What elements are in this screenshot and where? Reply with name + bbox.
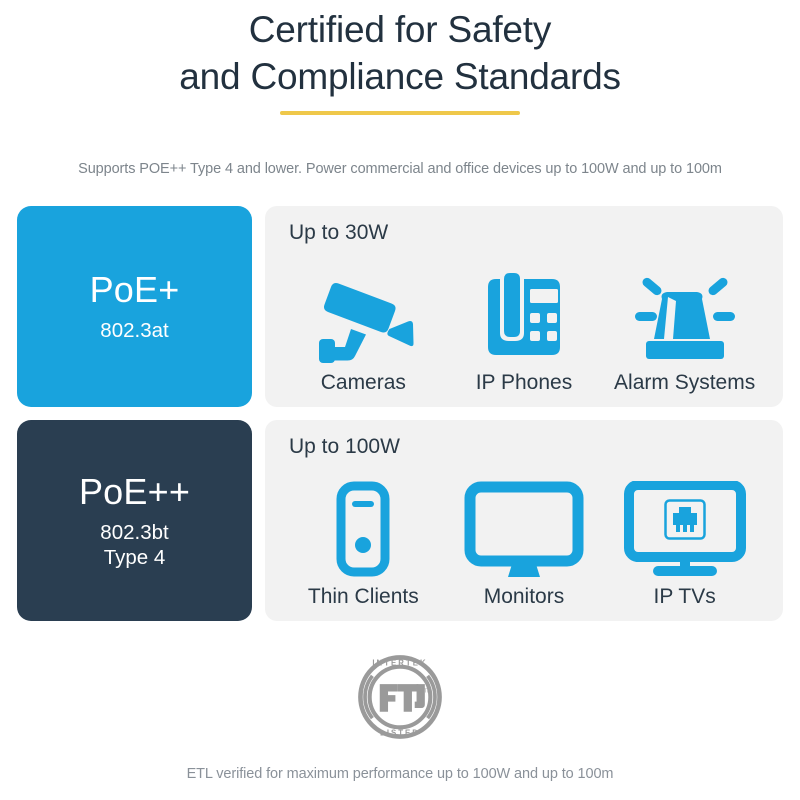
footer: INTERTEK LISTED TM ETL verified for maxi… [0,651,800,783]
alarm-siren-icon [630,267,740,363]
device-item-alarm-systems: Alarm Systems [605,267,764,395]
tier-list: PoE+ 802.3at Up to 30W [0,206,800,621]
device-label: IP Phones [476,370,573,395]
page-title-line-1: Certified for Safety [0,6,800,53]
device-item-ip-phones: IP Phones [444,267,603,395]
badge-name: PoE+ [90,270,180,310]
poe-plusplus-badge: PoE++ 802.3bt Type 4 [17,420,252,621]
badge-name: PoE++ [79,472,190,512]
monitor-icon [464,481,584,577]
badge-standard-line-1: 802.3bt [100,520,168,545]
device-item-ip-tvs: IP TVs [605,481,764,609]
infographic-page: Certified for Safety and Compliance Stan… [0,0,800,800]
panel-power-heading: Up to 30W [277,220,771,245]
header: Certified for Safety and Compliance Stan… [0,0,800,115]
thin-client-tower-icon [336,481,390,577]
page-title-line-2: and Compliance Standards [0,53,800,100]
title-underline-rule [280,111,520,115]
device-row: Thin Clients Monitors [277,459,771,611]
etl-intertek-listed-logo: INTERTEK LISTED TM [354,651,446,748]
svg-text:INTERTEK: INTERTEK [372,659,427,668]
poe-plus-device-panel: Up to 30W Cameras [265,206,783,407]
footer-note-text: ETL verified for maximum performance up … [0,765,800,783]
device-label: IP TVs [654,584,716,609]
device-item-thin-clients: Thin Clients [284,481,443,609]
security-camera-icon [309,267,417,363]
badge-standard: 802.3at [100,318,168,343]
badge-standard-line-2: Type 4 [100,545,168,570]
poe-plusplus-device-panel: Up to 100W Thin Clients [265,420,783,621]
poe-plus-badge: PoE+ 802.3at [17,206,252,407]
device-label: Alarm Systems [614,370,755,395]
tier-row: PoE+ 802.3at Up to 30W [17,206,783,407]
svg-text:TM: TM [424,688,431,694]
device-label: Monitors [484,584,565,609]
badge-standard: 802.3bt Type 4 [100,520,168,570]
device-row: Cameras [277,245,771,397]
ip-phone-icon [478,267,570,363]
panel-power-heading: Up to 100W [277,434,771,459]
subtitle-text: Supports POE++ Type 4 and lower. Power c… [0,160,800,178]
device-label: Cameras [321,370,406,395]
device-item-cameras: Cameras [284,267,443,395]
device-label: Thin Clients [308,584,419,609]
tier-row: PoE++ 802.3bt Type 4 Up to 100W [17,420,783,621]
device-item-monitors: Monitors [444,481,603,609]
ip-tv-icon [623,481,747,577]
svg-text:LISTED: LISTED [380,729,420,738]
